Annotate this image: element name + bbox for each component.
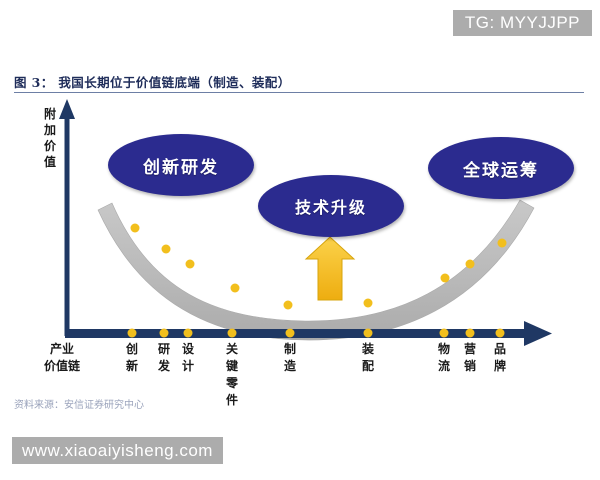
axis-node-label: 制造: [282, 341, 298, 375]
y-axis-title-char: 价: [42, 138, 58, 154]
axis-node-label-char: 计: [180, 358, 196, 375]
axis-node-label-char: 关: [224, 341, 240, 358]
axis-node-label: 研发: [156, 341, 172, 375]
axis-node-label: 物流: [436, 341, 452, 375]
axis-node-label-char: 新: [124, 358, 140, 375]
bubble-tech-upgrade[interactable]: 技术升级: [258, 175, 404, 237]
bubble-global-logistics[interactable]: 全球运筹: [428, 137, 574, 199]
axis-node-label: 关键零件: [224, 341, 240, 409]
axis-node-label-char: 零: [224, 375, 240, 392]
source-note: 资料来源：安信证券研究中心: [14, 396, 144, 411]
axis-node-label-char: 造: [282, 358, 298, 375]
upward-arrow-icon: [306, 237, 354, 300]
x-axis-title-line: 价值链: [30, 358, 94, 375]
axis-node-label-char: 发: [156, 358, 172, 375]
figure-canvas: TG: MYYJJPP 图 3： 我国长期位于价值链底端（制造、装配）: [0, 0, 600, 480]
y-axis-title-char: 附: [42, 106, 58, 122]
axis-node-label-char: 品: [492, 341, 508, 358]
axis-node-label-char: 物: [436, 341, 452, 358]
axis-node-label: 营销: [462, 341, 478, 375]
axis-node-label-char: 研: [156, 341, 172, 358]
y-axis-title-char: 加: [42, 122, 58, 138]
y-axis-title-char: 值: [42, 154, 58, 170]
axis-node-label-char: 流: [436, 358, 452, 375]
axis-node-label-char: 件: [224, 392, 240, 409]
axis-node-label-char: 装: [360, 341, 376, 358]
y-axis-title: 附 加 价 值: [42, 106, 58, 170]
axis-node-label-char: 键: [224, 358, 240, 375]
x-axis-title: 产业 价值链: [30, 341, 94, 375]
y-axis: [59, 99, 75, 336]
watermark-bottom-left: www.xiaoaiyisheng.com: [12, 437, 223, 464]
axis-node-label: 设计: [180, 341, 196, 375]
axis-node-label-char: 制: [282, 341, 298, 358]
x-axis-title-line: 产业: [30, 341, 94, 358]
axis-node-label-char: 设: [180, 341, 196, 358]
axis-node-label: 装配: [360, 341, 376, 375]
axis-node-label-char: 营: [462, 341, 478, 358]
axis-node-label: 品牌: [492, 341, 508, 375]
axis-node-label: 创新: [124, 341, 140, 375]
axis-node-label-char: 创: [124, 341, 140, 358]
axis-node-label-char: 配: [360, 358, 376, 375]
bubble-innovation-rnd[interactable]: 创新研发: [108, 134, 254, 196]
axis-node-label-char: 销: [462, 358, 478, 375]
axis-node-label-char: 牌: [492, 358, 508, 375]
